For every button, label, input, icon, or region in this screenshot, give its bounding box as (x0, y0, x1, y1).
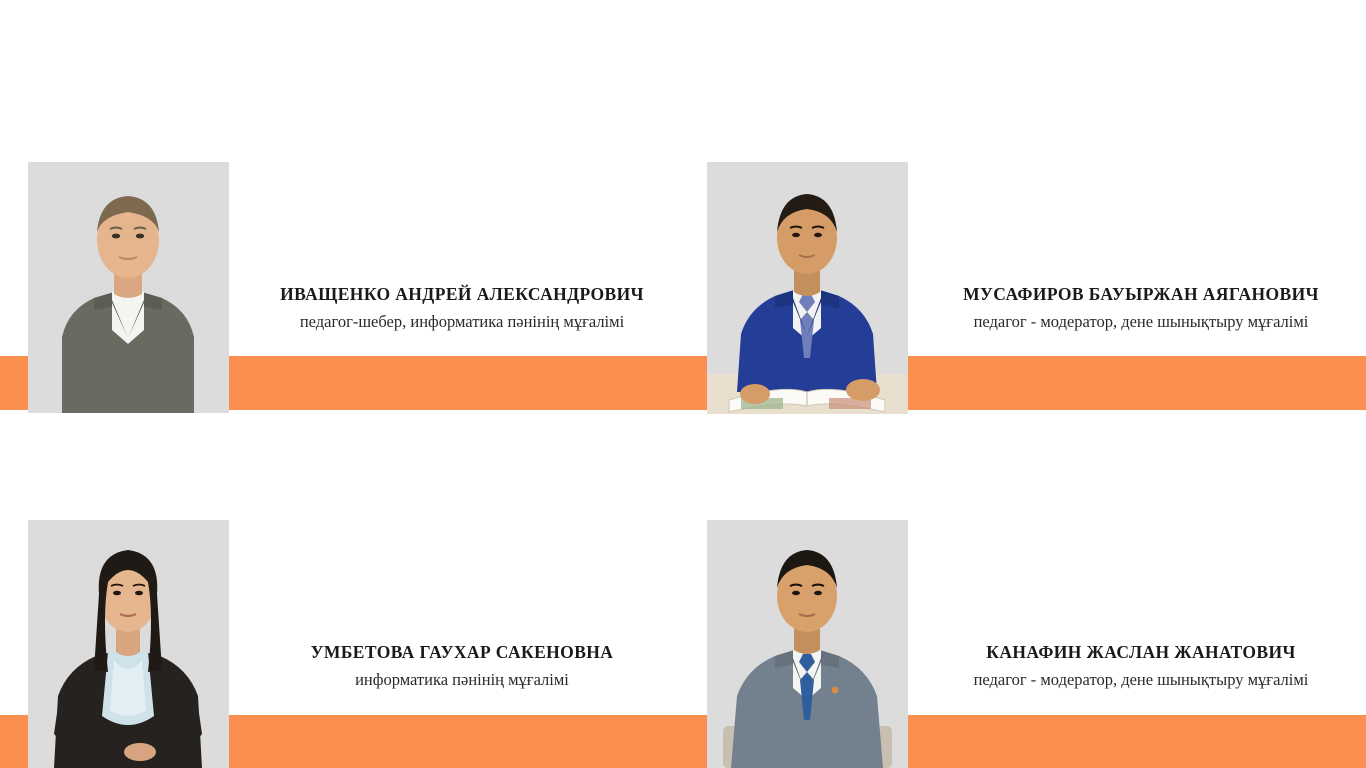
person-role: информатика пәнінің мұғалімі (355, 669, 569, 690)
person-role: педагог - модератор, дене шынықтыру мұға… (974, 311, 1309, 332)
person-info: МУСАФИРОВ БАУЫРЖАН АЯГАНОВИЧ педагог - м… (908, 162, 1366, 352)
person-role: педагог - модератор, дене шынықтыру мұға… (974, 669, 1309, 690)
person-name: ИВАЩЕНКО АНДРЕЙ АЛЕКСАНДРОВИЧ (280, 284, 644, 306)
staff-directory-slide: ИВАЩЕНКО АНДРЕЙ АЛЕКСАНДРОВИЧ педагог-ше… (0, 0, 1366, 768)
person-info: УМБЕТОВА ГАУХАР САКЕНОВНА информатика пә… (229, 520, 695, 710)
person-photo (28, 520, 229, 768)
person-info: КАНАФИН ЖАСЛАН ЖАНАТОВИЧ педагог - модер… (908, 520, 1366, 710)
person-photo (707, 520, 908, 768)
person-name: УМБЕТОВА ГАУХАР САКЕНОВНА (311, 642, 614, 664)
person-name: МУСАФИРОВ БАУЫРЖАН АЯГАНОВИЧ (963, 284, 1319, 306)
person-info: ИВАЩЕНКО АНДРЕЙ АЛЕКСАНДРОВИЧ педагог-ше… (229, 162, 695, 352)
person-photo (707, 162, 908, 414)
person-role: педагог-шебер, информатика пәнінің мұғал… (300, 311, 624, 332)
person-name: КАНАФИН ЖАСЛАН ЖАНАТОВИЧ (986, 642, 1295, 664)
person-photo (28, 162, 229, 413)
